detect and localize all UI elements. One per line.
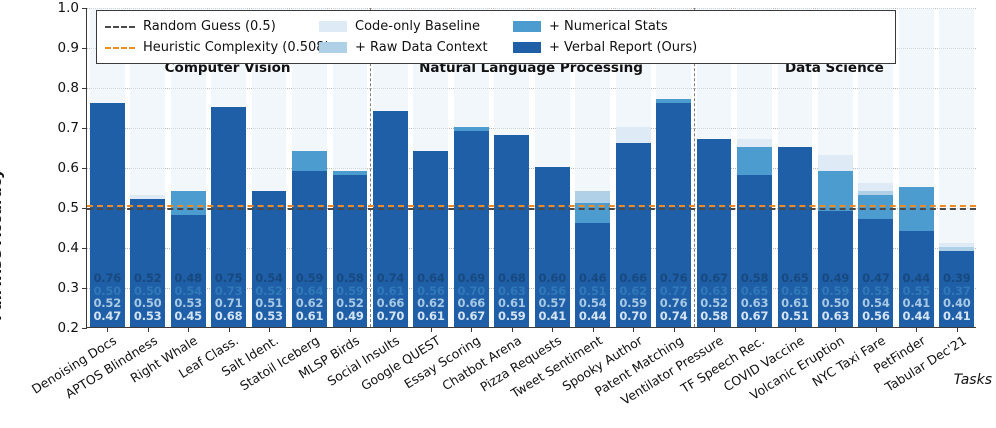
value-label-stack: 0.580.590.520.49: [330, 272, 370, 322]
value-label-code: 0.47: [87, 310, 127, 323]
value-label-code: 0.49: [330, 310, 370, 323]
value-label-verbal: 0.48: [168, 272, 208, 285]
value-label-stack: 0.680.630.610.59: [492, 272, 532, 322]
x-tick-mark: [835, 327, 836, 332]
y-tick-label: 0.4: [39, 240, 79, 256]
legend-label: + Verbal Report (Ours): [549, 40, 697, 55]
value-label-raw: 0.52: [87, 297, 127, 310]
value-label-verbal: 0.76: [653, 272, 693, 285]
value-label-raw: 0.54: [856, 297, 896, 310]
y-tick-mark: [82, 128, 87, 129]
value-label-verbal: 0.75: [208, 272, 248, 285]
legend-swatch: [513, 21, 541, 32]
value-label-verbal: 0.67: [694, 272, 734, 285]
y-tick-mark: [82, 88, 87, 89]
value-label-stack: 0.390.370.400.41: [937, 272, 977, 322]
value-label-raw: 0.50: [815, 297, 855, 310]
legend-item: Heuristic Complexity (0.508): [105, 40, 315, 55]
x-tick-mark: [795, 327, 796, 332]
value-label-code: 0.53: [249, 310, 289, 323]
x-tick-mark: [350, 327, 351, 332]
value-label-stack: 0.540.520.510.53: [249, 272, 289, 322]
x-tick-mark: [593, 327, 594, 332]
y-tick-label: 0.3: [39, 280, 79, 296]
value-label-stack: 0.470.530.540.56: [856, 272, 896, 322]
legend-swatch: [513, 42, 541, 53]
value-label-code: 0.58: [694, 310, 734, 323]
value-label-code: 0.41: [532, 310, 572, 323]
value-label-verbal: 0.64: [411, 272, 451, 285]
legend-item: + Numerical Stats: [513, 19, 693, 34]
value-label-stack: 0.480.540.530.45: [168, 272, 208, 322]
value-label-stack: 0.590.640.620.61: [289, 272, 329, 322]
y-tick-label: 0.2: [39, 320, 79, 336]
x-tick-mark: [431, 327, 432, 332]
legend-item: Code-only Baseline: [319, 19, 509, 34]
y-tick-label: 0.9: [39, 40, 79, 56]
value-label-code: 0.44: [896, 310, 936, 323]
value-label-verbal: 0.54: [249, 272, 289, 285]
value-label-raw: 0.53: [168, 297, 208, 310]
value-label-code: 0.41: [937, 310, 977, 323]
value-label-raw: 0.61: [775, 297, 815, 310]
value-label-raw: 0.41: [896, 297, 936, 310]
reference-line-heuristic-complexity: [87, 205, 976, 207]
x-tick-mark: [633, 327, 634, 332]
value-label-raw: 0.50: [127, 297, 167, 310]
legend-label: + Raw Data Context: [355, 40, 488, 55]
y-tick-mark: [82, 168, 87, 169]
value-label-raw: 0.59: [613, 297, 653, 310]
legend-swatch: [319, 21, 347, 32]
x-tick-mark: [107, 327, 108, 332]
x-tick-mark: [876, 327, 877, 332]
reference-line-random-guess: [87, 208, 976, 210]
y-axis-title: Pairwise Accuracy: [0, 168, 5, 320]
y-tick-label: 1.0: [39, 0, 79, 16]
value-label-code: 0.45: [168, 310, 208, 323]
value-label-raw: 0.61: [492, 297, 532, 310]
x-tick-mark: [552, 327, 553, 332]
value-label-verbal: 0.39: [937, 272, 977, 285]
value-label-stack: 0.690.700.660.67: [451, 272, 491, 322]
legend-label: + Numerical Stats: [549, 19, 668, 34]
x-tick-mark: [269, 327, 270, 332]
value-label-stack: 0.580.650.630.67: [734, 272, 774, 322]
x-tick-mark: [714, 327, 715, 332]
value-label-code: 0.63: [815, 310, 855, 323]
value-label-code: 0.67: [451, 310, 491, 323]
x-tick-mark: [755, 327, 756, 332]
value-label-code: 0.68: [208, 310, 248, 323]
value-label-verbal: 0.46: [572, 272, 612, 285]
value-label-verbal: 0.66: [613, 272, 653, 285]
value-label-verbal: 0.74: [370, 272, 410, 285]
x-tick-mark: [188, 327, 189, 332]
value-label-code: 0.44: [572, 310, 612, 323]
value-label-verbal: 0.68: [492, 272, 532, 285]
legend-swatch: [319, 42, 347, 53]
value-label-raw: 0.62: [289, 297, 329, 310]
value-label-verbal: 0.58: [734, 272, 774, 285]
legend-label: Code-only Baseline: [355, 19, 480, 34]
value-label-raw: 0.52: [694, 297, 734, 310]
x-tick-mark: [390, 327, 391, 332]
legend-label: Heuristic Complexity (0.508): [143, 40, 330, 55]
x-tick-mark: [957, 327, 958, 332]
value-label-verbal: 0.69: [451, 272, 491, 285]
legend-line-sample: [105, 26, 135, 28]
value-label-verbal: 0.44: [896, 272, 936, 285]
value-label-raw: 0.51: [249, 297, 289, 310]
value-label-code: 0.53: [127, 310, 167, 323]
value-label-verbal: 0.59: [289, 272, 329, 285]
value-label-code: 0.70: [370, 310, 410, 323]
x-axis-title: Tasks: [954, 372, 992, 388]
value-label-code: 0.74: [653, 310, 693, 323]
value-label-stack: 0.490.590.500.63: [815, 272, 855, 322]
value-label-verbal: 0.65: [775, 272, 815, 285]
value-label-verbal: 0.52: [127, 272, 167, 285]
y-tick-label: 0.6: [39, 160, 79, 176]
value-label-stack: 0.760.500.520.47: [87, 272, 127, 322]
value-label-code: 0.59: [492, 310, 532, 323]
value-label-raw: 0.66: [451, 297, 491, 310]
chart-figure: Pairwise Accuracy Tasks 0.760.500.520.47…: [0, 0, 996, 428]
legend-line-sample: [105, 47, 135, 49]
value-label-stack: 0.650.630.610.51: [775, 272, 815, 322]
value-label-stack: 0.600.560.570.41: [532, 272, 572, 322]
value-label-stack: 0.760.770.760.74: [653, 272, 693, 322]
value-label-raw: 0.62: [411, 297, 451, 310]
value-label-stack: 0.660.620.590.70: [613, 272, 653, 322]
value-label-raw: 0.54: [572, 297, 612, 310]
value-label-code: 0.67: [734, 310, 774, 323]
value-label-stack: 0.520.500.500.53: [127, 272, 167, 322]
legend-item: Random Guess (0.5): [105, 19, 315, 34]
y-tick-label: 0.5: [39, 200, 79, 216]
value-label-code: 0.51: [775, 310, 815, 323]
value-label-raw: 0.40: [937, 297, 977, 310]
y-tick-label: 0.8: [39, 80, 79, 96]
value-label-verbal: 0.58: [330, 272, 370, 285]
y-tick-mark: [82, 48, 87, 49]
y-tick-mark: [82, 328, 87, 329]
legend-item: + Raw Data Context: [319, 40, 509, 55]
value-label-raw: 0.76: [653, 297, 693, 310]
value-label-raw: 0.52: [330, 297, 370, 310]
x-tick-mark: [148, 327, 149, 332]
value-label-verbal: 0.76: [87, 272, 127, 285]
x-tick-mark: [471, 327, 472, 332]
value-label-verbal: 0.60: [532, 272, 572, 285]
value-label-raw: 0.57: [532, 297, 572, 310]
value-label-stack: 0.750.730.710.68: [208, 272, 248, 322]
value-label-code: 0.70: [613, 310, 653, 323]
value-label-verbal: 0.49: [815, 272, 855, 285]
y-tick-label: 0.7: [39, 120, 79, 136]
value-label-raw: 0.63: [734, 297, 774, 310]
value-label-raw: 0.66: [370, 297, 410, 310]
value-label-code: 0.56: [856, 310, 896, 323]
legend-label: Random Guess (0.5): [143, 19, 276, 34]
value-label-stack: 0.670.630.520.58: [694, 272, 734, 322]
value-label-verbal: 0.47: [856, 272, 896, 285]
x-tick-mark: [512, 327, 513, 332]
y-tick-mark: [82, 248, 87, 249]
x-tick-mark: [229, 327, 230, 332]
value-label-raw: 0.71: [208, 297, 248, 310]
value-label-code: 0.61: [411, 310, 451, 323]
legend-item: + Verbal Report (Ours): [513, 40, 693, 55]
y-tick-mark: [82, 8, 87, 9]
value-label-stack: 0.740.610.660.70: [370, 272, 410, 322]
value-label-stack: 0.640.560.620.61: [411, 272, 451, 322]
x-tick-mark: [916, 327, 917, 332]
legend: Random Guess (0.5)Heuristic Complexity (…: [96, 10, 896, 64]
value-label-code: 0.61: [289, 310, 329, 323]
x-tick-mark: [674, 327, 675, 332]
value-label-stack: 0.440.550.410.44: [896, 272, 936, 322]
value-label-stack: 0.460.510.540.44: [572, 272, 612, 322]
x-tick-mark: [310, 327, 311, 332]
